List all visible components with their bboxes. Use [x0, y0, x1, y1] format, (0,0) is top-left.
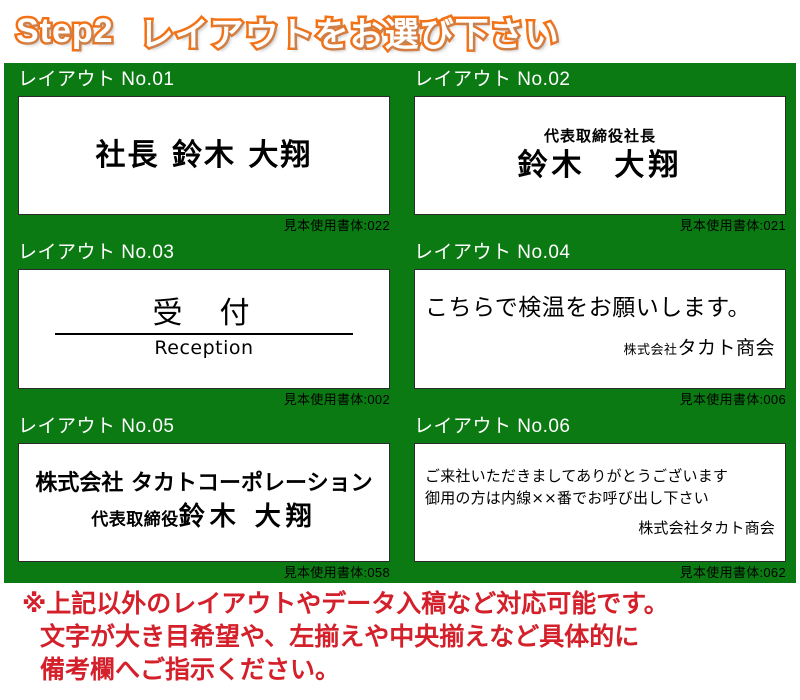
font-code-05: 見本使用書体:058 — [18, 564, 390, 581]
layout-label-04: レイアウト No.04 — [414, 240, 786, 266]
footer-note: ※上記以外のレイアウトやデータ入稿など対応可能です。 文字が大き目希望や、左揃え… — [0, 588, 800, 687]
footer-note-line-2: 文字が大き目希望や、左揃えや中央揃えなど具体的に — [22, 621, 800, 654]
nameplate-preview-03: 受 付 Reception — [18, 269, 390, 388]
footer-note-line-1: ※上記以外のレイアウトやデータ入稿など対応可能です。 — [22, 588, 800, 621]
nameplate-05-name: 鈴木 大翔 — [179, 502, 317, 532]
font-code-01: 見本使用書体:022 — [18, 217, 390, 234]
nameplate-03-divider — [55, 333, 353, 335]
layout-label-02: レイアウト No.02 — [414, 67, 786, 93]
font-code-03: 見本使用書体:002 — [18, 391, 390, 408]
layout-label-03: レイアウト No.03 — [18, 240, 390, 266]
footer-note-line-3: 備考欄へご指示ください。 — [22, 654, 800, 687]
font-code-02: 見本使用書体:021 — [414, 217, 786, 234]
layout-samples-panel: レイアウト No.01 社長 鈴木 大翔 見本使用書体:022 レイアウト No… — [4, 63, 796, 583]
nameplate-preview-05: 株式会社 タカトコーポレーション 代表取締役鈴木 大翔 — [18, 443, 390, 562]
nameplate-03-sub: Reception — [29, 336, 379, 360]
nameplate-05-role: 代表取締役 — [91, 510, 179, 530]
nameplate-preview-01: 社長 鈴木 大翔 — [18, 96, 390, 215]
nameplate-04-company-prefix: 株式会社 — [623, 343, 677, 358]
nameplate-04-company-name: タカト商会 — [677, 337, 775, 359]
nameplate-02-title: 代表取締役社長 — [425, 127, 775, 146]
nameplate-preview-04: こちらで検温をお願いします。 株式会社タカト商会 — [414, 269, 786, 388]
nameplate-03-main: 受 付 — [29, 297, 379, 331]
nameplate-02-name: 鈴木 大翔 — [425, 148, 775, 184]
layout-label-05: レイアウト No.05 — [18, 414, 390, 440]
font-code-04: 見本使用書体:006 — [414, 391, 786, 408]
layout-option-04[interactable]: レイアウト No.04 こちらで検温をお願いします。 株式会社タカト商会 見本使… — [400, 236, 796, 409]
page-title: レイアウトをお選び下さい — [140, 7, 560, 56]
font-code-06: 見本使用書体:062 — [414, 564, 786, 581]
page-header: Step2 レイアウトをお選び下さい — [0, 0, 800, 63]
nameplate-04-company: 株式会社タカト商会 — [425, 336, 775, 363]
layout-label-01: レイアウト No.01 — [18, 67, 390, 93]
layout-option-01[interactable]: レイアウト No.01 社長 鈴木 大翔 見本使用書体:022 — [4, 63, 400, 236]
nameplate-05-company: 株式会社 タカトコーポレーション — [29, 470, 379, 498]
nameplate-06-line-2: 御用の方は内線××番でお呼び出し下さい — [425, 487, 775, 509]
layout-selection-page: Step2 レイアウトをお選び下さい レイアウト No.01 社長 鈴木 大翔 … — [0, 0, 800, 700]
nameplate-06-company: 株式会社タカト商会 — [425, 517, 775, 539]
layout-option-05[interactable]: レイアウト No.05 株式会社 タカトコーポレーション 代表取締役鈴木 大翔 … — [4, 410, 400, 583]
nameplate-01-line-1: 社長 鈴木 大翔 — [29, 139, 379, 173]
nameplate-06-line-1: ご来社いただきましてありがとうございます — [425, 465, 775, 487]
nameplate-preview-06: ご来社いただきましてありがとうございます 御用の方は内線××番でお呼び出し下さい… — [414, 443, 786, 562]
nameplate-preview-02: 代表取締役社長 鈴木 大翔 — [414, 96, 786, 215]
layout-option-02[interactable]: レイアウト No.02 代表取締役社長 鈴木 大翔 見本使用書体:021 — [400, 63, 796, 236]
header-step-label: Step2 — [16, 12, 114, 51]
layout-grid: レイアウト No.01 社長 鈴木 大翔 見本使用書体:022 レイアウト No… — [4, 63, 796, 583]
layout-option-03[interactable]: レイアウト No.03 受 付 Reception 見本使用書体:002 — [4, 236, 400, 409]
layout-option-06[interactable]: レイアウト No.06 ご来社いただきましてありがとうございます 御用の方は内線… — [400, 410, 796, 583]
layout-label-06: レイアウト No.06 — [414, 414, 786, 440]
nameplate-05-name-row: 代表取締役鈴木 大翔 — [29, 502, 379, 535]
nameplate-04-main: こちらで検温をお願いします。 — [425, 294, 775, 322]
